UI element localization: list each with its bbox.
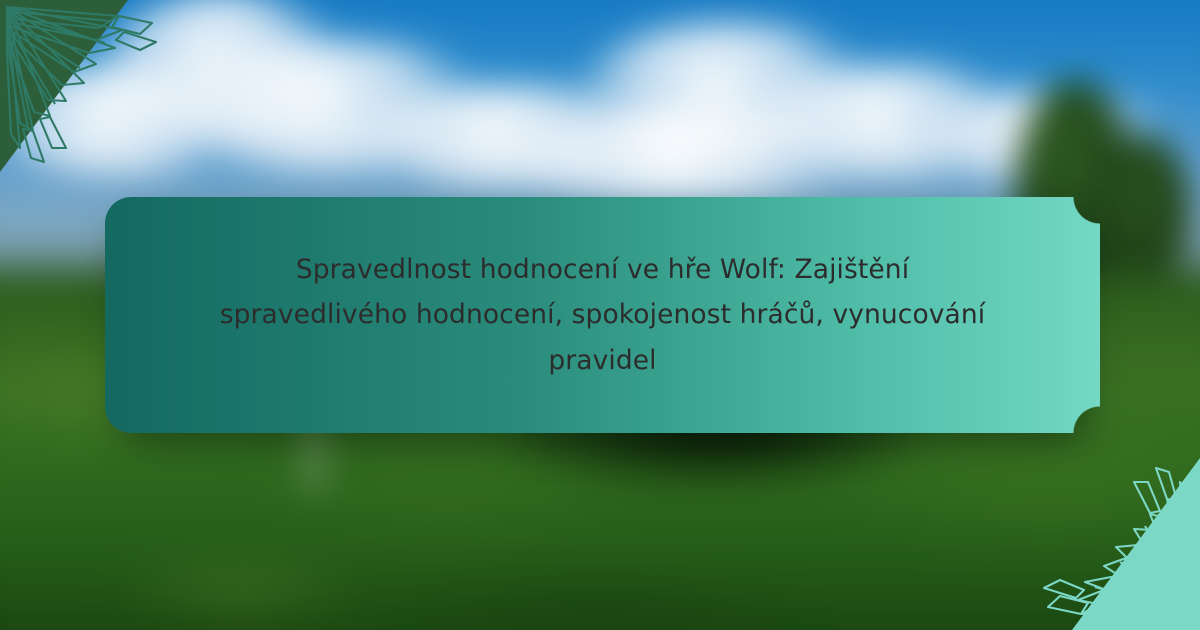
social-card-canvas: Spravedlnost hodnocení ve hře Wolf: Zaji… <box>0 0 1200 630</box>
headline-card: Spravedlnost hodnocení ve hře Wolf: Zaji… <box>105 197 1100 433</box>
cloud <box>0 65 250 175</box>
page-title: Spravedlnost hodnocení ve hře Wolf: Zaji… <box>130 247 1076 384</box>
cloud <box>480 110 900 200</box>
card-surface: Spravedlnost hodnocení ve hře Wolf: Zaji… <box>105 197 1100 433</box>
